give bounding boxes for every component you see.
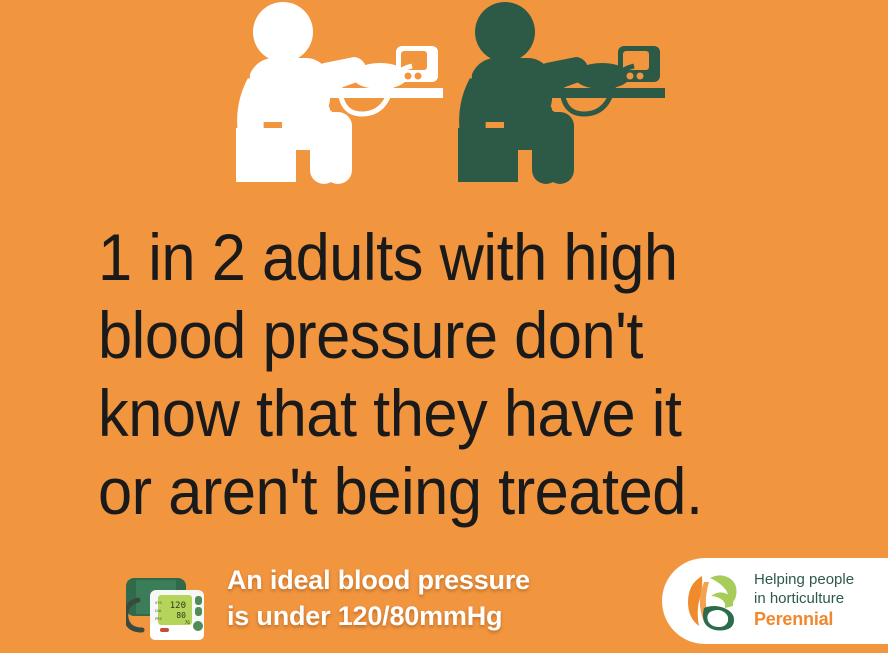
lcd-diastolic: 80 [176, 611, 186, 620]
logo-brand-name: Perennial [754, 610, 884, 629]
lcd-systolic: 120 [170, 601, 186, 611]
blood-pressure-monitor-icon: 120 80 76 SYS DIA PRS [126, 560, 222, 648]
footer-strip: 120 80 76 SYS DIA PRS An ideal blood pre… [0, 548, 888, 653]
svg-text:SYS: SYS [155, 601, 162, 605]
lcd-pulse: 76 [185, 620, 191, 626]
logo-text-block: Helping people in horticulture Perennial [754, 570, 884, 629]
person-seated-taking-blood-pressure-white-icon [228, 0, 443, 190]
illustration-row [0, 0, 888, 195]
perennial-logo-mark-icon [680, 568, 746, 634]
headline-text: 1 in 2 adults with high blood pressure d… [98, 218, 777, 530]
logo-tagline-line2: in horticulture [754, 589, 884, 608]
infographic-canvas: 1 in 2 adults with high blood pressure d… [0, 0, 888, 653]
person-seated-taking-blood-pressure-green-icon [450, 0, 665, 190]
svg-text:DIA: DIA [155, 609, 162, 613]
ideal-bp-text: An ideal blood pressure is under 120/80m… [227, 562, 530, 634]
svg-text:PRS: PRS [155, 617, 163, 621]
logo-tagline-line1: Helping people [754, 570, 884, 589]
perennial-logo-panel[interactable]: Helping people in horticulture Perennial [662, 558, 888, 644]
